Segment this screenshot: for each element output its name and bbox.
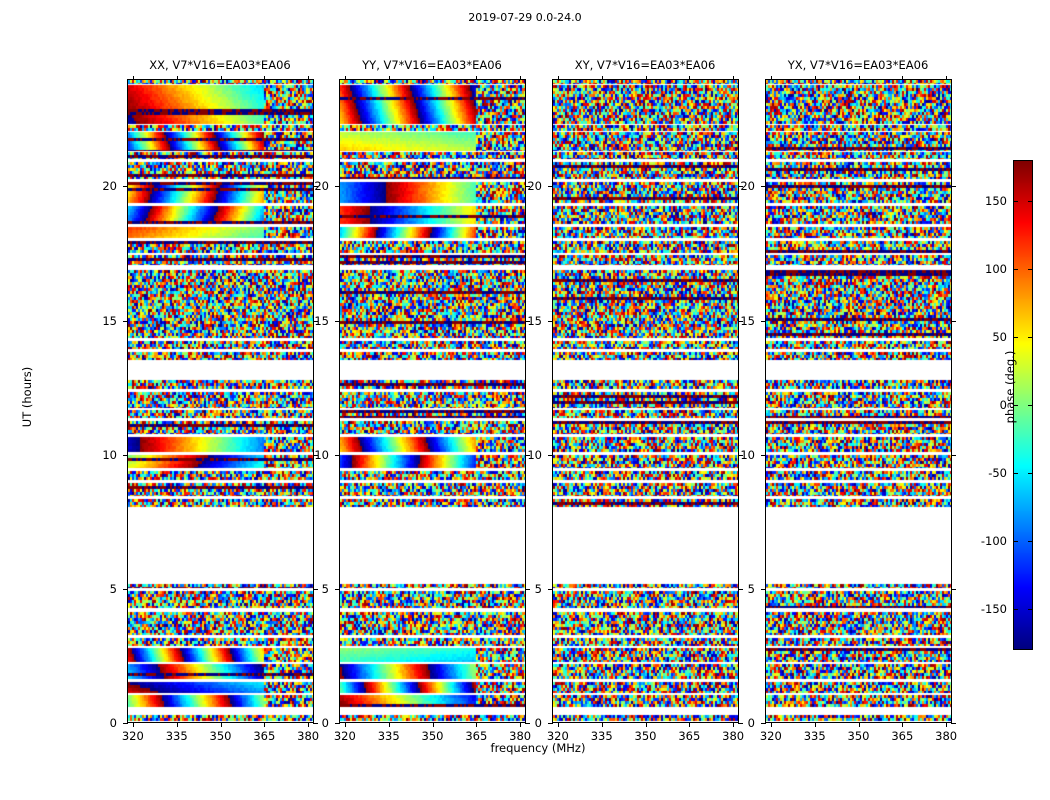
x-tick-mark-top (815, 76, 816, 80)
y-tick-mark (548, 321, 553, 322)
figure-canvas: 2019-07-29 0.0-24.0 XX, V7*V16=EA03*EA06… (0, 0, 1050, 800)
colorbar-tick-label: 0 (971, 398, 1007, 412)
x-tick-label: 365 (669, 729, 709, 743)
x-tick-mark-top (221, 76, 222, 80)
waterfall-panel-xx[interactable] (127, 79, 314, 723)
colorbar-tick-mark-left (1013, 269, 1018, 270)
y-tick-mark-right (951, 186, 956, 187)
colorbar-tick-mark-left (1013, 541, 1018, 542)
x-tick-mark (815, 723, 816, 727)
y-tick-label: 20 (725, 179, 755, 193)
x-tick-mark-top (476, 76, 477, 80)
x-tick-mark-top (859, 76, 860, 80)
x-tick-mark-top (264, 76, 265, 80)
x-tick-mark (646, 723, 647, 727)
x-tick-mark (389, 723, 390, 727)
x-tick-mark-top (902, 76, 903, 80)
y-tick-mark-right (951, 723, 956, 724)
y-tick-label: 0 (299, 716, 329, 730)
y-tick-mark-right (951, 455, 956, 456)
y-tick-mark (548, 723, 553, 724)
x-tick-mark-top (602, 76, 603, 80)
x-tick-label: 320 (113, 729, 153, 743)
x-tick-mark (689, 723, 690, 727)
y-tick-mark (123, 589, 128, 590)
y-tick-mark (335, 321, 340, 322)
colorbar-tick-label: -100 (971, 534, 1007, 548)
y-tick-label: 5 (512, 582, 542, 596)
x-tick-label: 380 (926, 729, 966, 743)
x-tick-mark-top (733, 76, 734, 80)
x-tick-mark (859, 723, 860, 727)
x-tick-label: 335 (157, 729, 197, 743)
x-tick-mark (476, 723, 477, 727)
y-axis-label: UT (hours) (20, 337, 34, 457)
x-tick-mark-top (345, 76, 346, 80)
x-tick-mark (264, 723, 265, 727)
figure-suptitle: 2019-07-29 0.0-24.0 (0, 11, 1050, 24)
x-tick-mark-top (177, 76, 178, 80)
x-tick-mark (345, 723, 346, 727)
y-tick-mark (123, 723, 128, 724)
y-tick-mark (761, 321, 766, 322)
y-tick-mark (761, 455, 766, 456)
colorbar-tick-label: 150 (971, 194, 1007, 208)
colorbar-tick-mark-left (1013, 405, 1018, 406)
x-tick-mark-top (389, 76, 390, 80)
y-tick-label: 5 (299, 582, 329, 596)
y-tick-mark (761, 589, 766, 590)
x-tick-mark-top (946, 76, 947, 80)
y-tick-mark-right (951, 321, 956, 322)
y-tick-mark (335, 589, 340, 590)
x-tick-mark (221, 723, 222, 727)
x-tick-mark (177, 723, 178, 727)
x-tick-mark (558, 723, 559, 727)
x-tick-label: 335 (369, 729, 409, 743)
colorbar-tick-mark-left (1013, 609, 1018, 610)
colorbar-tick-label: 50 (971, 330, 1007, 344)
x-tick-label: 350 (201, 729, 241, 743)
x-tick-label: 320 (325, 729, 365, 743)
colorbar-tick-mark (1028, 269, 1033, 270)
x-tick-mark-top (771, 76, 772, 80)
y-tick-label: 5 (725, 582, 755, 596)
y-tick-mark (335, 455, 340, 456)
x-tick-mark (133, 723, 134, 727)
x-tick-label: 335 (582, 729, 622, 743)
colorbar-tick-mark (1028, 541, 1033, 542)
x-tick-label: 365 (456, 729, 496, 743)
y-tick-label: 10 (512, 448, 542, 462)
y-tick-label: 0 (87, 716, 117, 730)
waterfall-image (553, 80, 738, 722)
waterfall-image (128, 80, 313, 722)
y-tick-label: 15 (512, 314, 542, 328)
x-tick-mark-top (308, 76, 309, 80)
x-tick-label: 365 (244, 729, 284, 743)
colorbar-tick-label: -50 (971, 466, 1007, 480)
x-tick-mark (771, 723, 772, 727)
waterfall-panel-yx[interactable] (765, 79, 952, 723)
y-tick-label: 5 (87, 582, 117, 596)
x-tick-label: 380 (500, 729, 540, 743)
y-tick-label: 20 (299, 179, 329, 193)
colorbar-tick-mark-left (1013, 337, 1018, 338)
x-tick-label: 320 (538, 729, 578, 743)
colorbar-tick-mark (1028, 405, 1033, 406)
y-tick-mark (548, 589, 553, 590)
waterfall-panel-yy[interactable] (339, 79, 526, 723)
colorbar-tick-mark-left (1013, 201, 1018, 202)
x-tick-label: 350 (626, 729, 666, 743)
waterfall-image (340, 80, 525, 722)
y-tick-label: 10 (87, 448, 117, 462)
x-tick-label: 320 (751, 729, 791, 743)
y-tick-mark (335, 186, 340, 187)
x-axis-label: frequency (MHz) (127, 741, 949, 755)
y-tick-label: 10 (725, 448, 755, 462)
x-tick-label: 350 (839, 729, 879, 743)
y-tick-mark (123, 455, 128, 456)
y-tick-mark (123, 321, 128, 322)
waterfall-image (766, 80, 951, 722)
colorbar-tick-mark-left (1013, 473, 1018, 474)
x-tick-mark-top (133, 76, 134, 80)
x-tick-mark-top (433, 76, 434, 80)
x-tick-mark-top (520, 76, 521, 80)
x-tick-label: 365 (882, 729, 922, 743)
x-tick-mark-top (689, 76, 690, 80)
x-tick-mark-top (558, 76, 559, 80)
y-tick-label: 20 (512, 179, 542, 193)
y-tick-mark (335, 723, 340, 724)
colorbar-tick-mark (1028, 473, 1033, 474)
y-tick-label: 15 (299, 314, 329, 328)
y-tick-mark-right (951, 589, 956, 590)
x-tick-label: 380 (288, 729, 328, 743)
y-tick-label: 15 (87, 314, 117, 328)
y-tick-label: 10 (299, 448, 329, 462)
waterfall-panel-xy[interactable] (552, 79, 739, 723)
x-tick-mark-top (646, 76, 647, 80)
y-tick-label: 20 (87, 179, 117, 193)
colorbar-tick-mark (1028, 609, 1033, 610)
y-tick-label: 15 (725, 314, 755, 328)
colorbar-tick-label: 100 (971, 262, 1007, 276)
x-tick-mark (602, 723, 603, 727)
x-tick-label: 350 (413, 729, 453, 743)
y-tick-mark (761, 186, 766, 187)
y-tick-label: 0 (512, 716, 542, 730)
y-tick-mark (548, 455, 553, 456)
colorbar-tick-mark (1028, 337, 1033, 338)
colorbar-tick-label: -150 (971, 602, 1007, 616)
x-tick-mark (946, 723, 947, 727)
panel-title-yx: YX, V7*V16=EA03*EA06 (728, 58, 988, 72)
x-tick-label: 335 (795, 729, 835, 743)
y-tick-mark (548, 186, 553, 187)
y-tick-label: 0 (725, 716, 755, 730)
y-tick-mark (761, 723, 766, 724)
colorbar-tick-mark (1028, 201, 1033, 202)
x-tick-mark (433, 723, 434, 727)
y-tick-mark (123, 186, 128, 187)
x-tick-mark (902, 723, 903, 727)
x-tick-label: 380 (713, 729, 753, 743)
